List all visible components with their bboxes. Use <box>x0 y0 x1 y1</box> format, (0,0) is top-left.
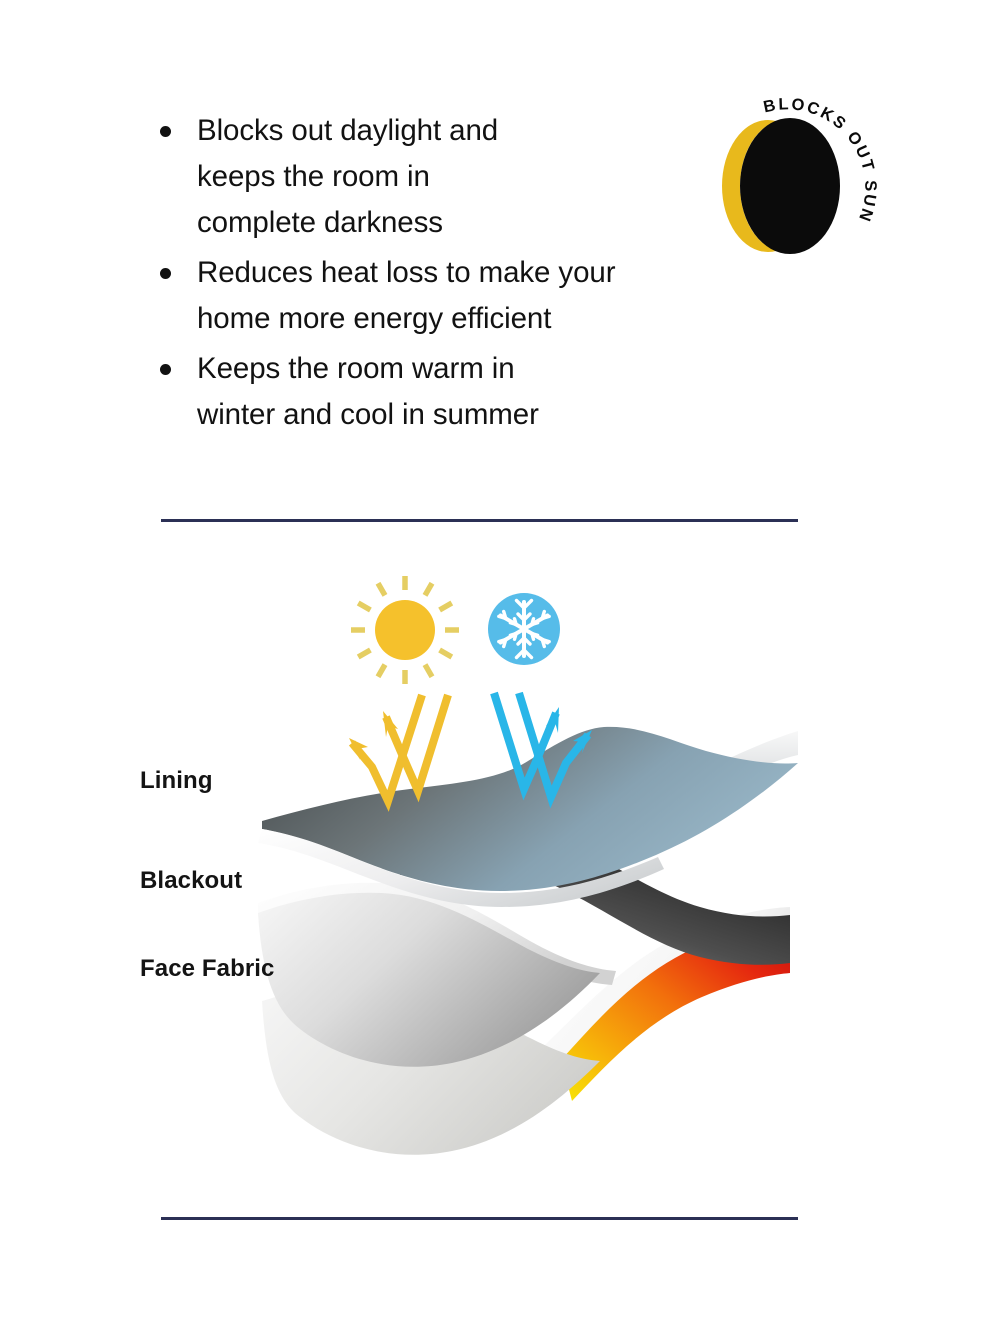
fabric-layers-svg <box>0 545 1000 1165</box>
list-item: Blocks out daylight and keeps the room i… <box>160 108 760 246</box>
sun-ray-arrows <box>352 695 448 801</box>
blocks-out-sun-badge-svg: BLOCKS OUT SUN <box>694 92 886 278</box>
layer-label-blackout: Blackout <box>140 867 242 895</box>
black-disc-icon <box>740 118 840 254</box>
layer-lining <box>258 717 798 907</box>
divider-bottom <box>161 1217 798 1220</box>
blocks-out-sun-badge: BLOCKS OUT SUN <box>694 92 886 278</box>
bullet-dot-icon <box>160 126 171 137</box>
benefits-list: Blocks out daylight and keeps the room i… <box>160 108 760 442</box>
benefit-text: Keeps the room warm in winter and cool i… <box>197 346 539 438</box>
bullet-dot-icon <box>160 268 171 279</box>
benefit-text: Reduces heat loss to make your home more… <box>197 250 615 342</box>
list-item: Reduces heat loss to make your home more… <box>160 250 760 342</box>
divider-top <box>161 519 798 522</box>
layer-label-face-fabric: Face Fabric <box>140 955 275 983</box>
fabric-layers-diagram: Lining Blackout Face Fabric <box>0 545 1000 1165</box>
bullet-dot-icon <box>160 364 171 375</box>
sun-icon <box>351 576 459 684</box>
layer-label-lining: Lining <box>140 767 213 795</box>
list-item: Keeps the room warm in winter and cool i… <box>160 346 760 438</box>
benefit-text: Blocks out daylight and keeps the room i… <box>197 108 498 246</box>
snowflake-icon <box>488 593 560 665</box>
sun-disc <box>375 600 435 660</box>
